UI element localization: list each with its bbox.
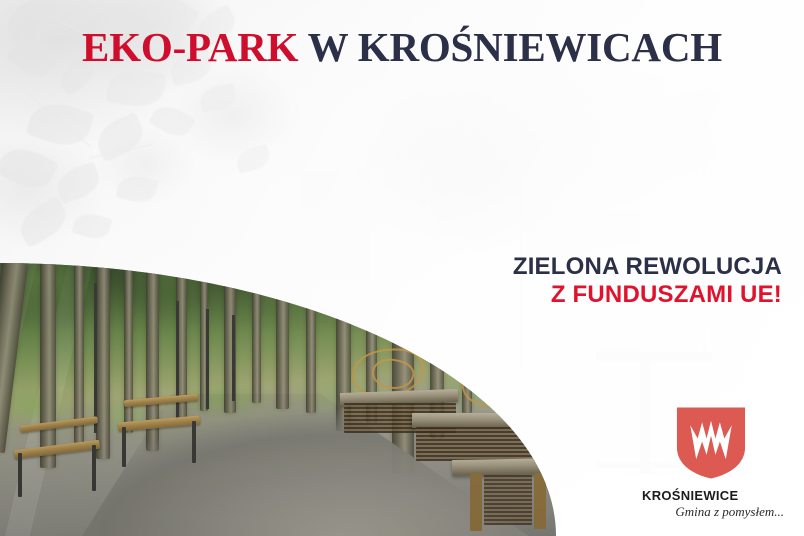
page-title-highlight: EKO-PARK bbox=[82, 24, 298, 70]
page-title: EKO-PARK W KROŚNIEWICACH bbox=[0, 27, 804, 68]
municipality-tagline: Gmina z pomysłem... bbox=[638, 504, 788, 520]
subtitle: ZIELONA REWOLUCJA Z FUNDUSZAMI UE! bbox=[513, 253, 782, 310]
subtitle-line-2: Z FUNDUSZAMI UE! bbox=[513, 281, 782, 309]
krosniewice-coat-of-arms-shield-icon bbox=[674, 406, 748, 480]
subtitle-line-1: ZIELONA REWOLUCJA bbox=[513, 253, 782, 281]
page-title-rest: W KROŚNIEWICACH bbox=[298, 24, 722, 70]
municipality-name: KROŚNIEWICE bbox=[638, 488, 788, 503]
poster-canvas: EKO-PARK W KROŚNIEWICACH bbox=[0, 0, 804, 536]
municipality-logo: KROŚNIEWICE Gmina z pomysłem... bbox=[638, 406, 788, 520]
